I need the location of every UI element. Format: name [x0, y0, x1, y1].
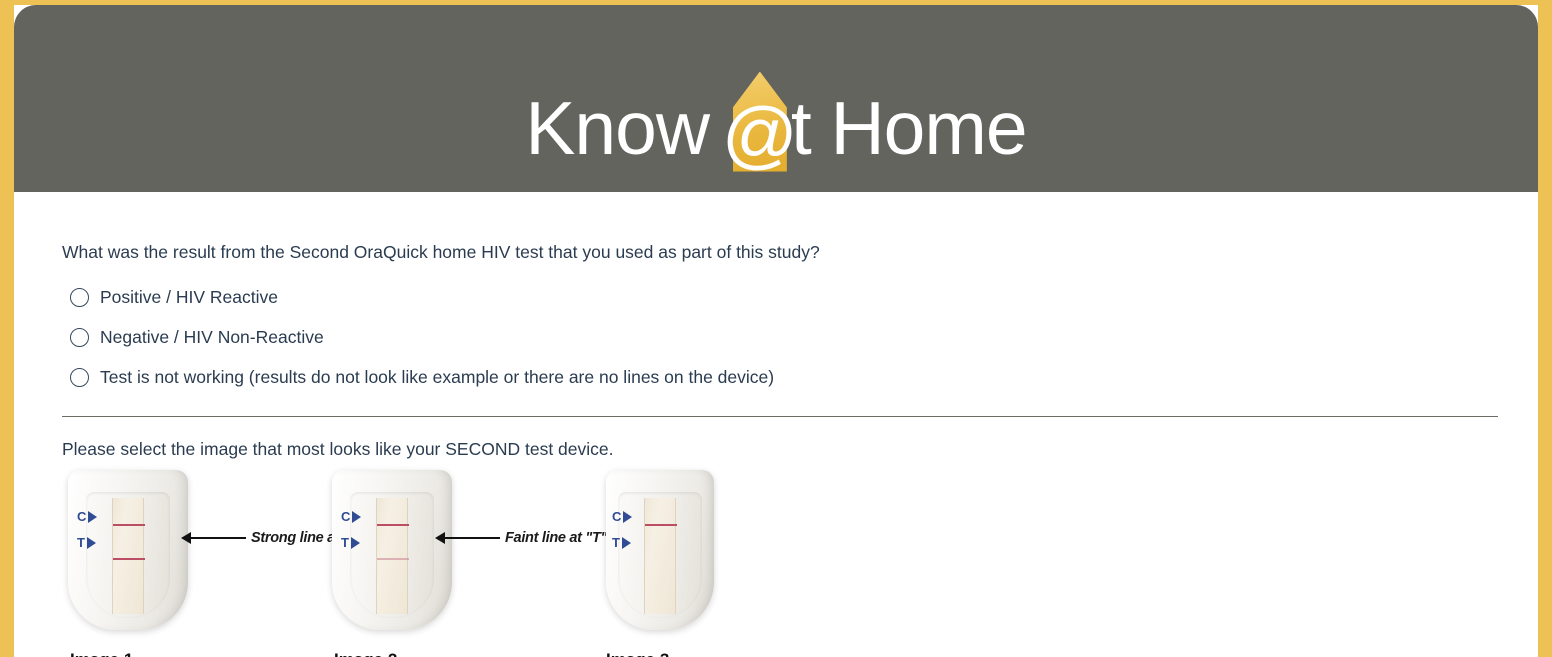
- test-strip-1: [112, 498, 144, 614]
- radio-positive[interactable]: [70, 288, 89, 307]
- control-line-3: [645, 524, 677, 527]
- site-logo: Know @ t Home: [525, 44, 1026, 154]
- callout-arrow-icon-1: [190, 537, 246, 539]
- option-label-positive: Positive / HIV Reactive: [100, 287, 278, 308]
- marker-c-label-2: C: [341, 509, 350, 524]
- marker-t-2: T: [341, 530, 375, 556]
- marker-group-1: C T: [77, 504, 111, 556]
- option-not-working[interactable]: Test is not working (results do not look…: [70, 358, 1504, 398]
- marker-c-arrow-icon-2: [352, 511, 361, 523]
- marker-t-label-2: T: [341, 535, 349, 550]
- radio-not-working[interactable]: [70, 368, 89, 387]
- control-line-2: [377, 524, 409, 527]
- marker-t-arrow-icon-1: [87, 537, 96, 549]
- option-positive[interactable]: Positive / HIV Reactive: [70, 278, 1504, 318]
- question-text: What was the result from the Second OraQ…: [48, 241, 1504, 264]
- test-strip-2: [376, 498, 408, 614]
- marker-group-3: C T: [612, 504, 646, 556]
- question-block: What was the result from the Second OraQ…: [48, 192, 1504, 398]
- option-negative[interactable]: Negative / HIV Non-Reactive: [70, 318, 1504, 358]
- survey-content: What was the result from the Second OraQ…: [14, 192, 1538, 657]
- device-label-2: Image 2: [334, 650, 397, 657]
- logo-house-mark: @: [729, 44, 791, 154]
- page-frame: Know @ t Home What was the result from t…: [14, 5, 1538, 657]
- marker-c-arrow-icon-3: [623, 511, 632, 523]
- marker-c-arrow-icon-1: [88, 511, 97, 523]
- marker-t-label-1: T: [77, 535, 85, 550]
- image-question-text: Please select the image that most looks …: [48, 439, 1504, 460]
- marker-t-1: T: [77, 530, 111, 556]
- cassette-body-1: C T: [68, 470, 188, 630]
- cassette-body-3: C T: [606, 470, 714, 630]
- device-option-2[interactable]: C T Faint line at "T": [326, 470, 556, 645]
- control-line-1: [113, 524, 145, 527]
- device-image-row: C T Strong line at "T": [48, 470, 1504, 657]
- marker-t-3: T: [612, 530, 646, 556]
- at-symbol-icon: @: [729, 72, 791, 172]
- marker-c-3: C: [612, 504, 646, 530]
- site-header: Know @ t Home: [14, 5, 1538, 192]
- option-label-not-working: Test is not working (results do not look…: [100, 367, 774, 388]
- callout-2: Faint line at "T": [444, 530, 607, 546]
- device-label-3: Image 3: [606, 650, 669, 657]
- logo-text-after: t Home: [791, 91, 1027, 166]
- test-strip-3: [644, 498, 676, 614]
- test-line-2: [377, 558, 409, 561]
- logo-text-before: Know: [525, 91, 728, 166]
- marker-t-arrow-icon-2: [351, 537, 360, 549]
- device-label-1: Image 1: [70, 650, 133, 657]
- section-divider: [62, 416, 1498, 417]
- marker-t-label-3: T: [612, 535, 620, 550]
- marker-c-label-3: C: [612, 509, 621, 524]
- marker-c-2: C: [341, 504, 375, 530]
- callout-arrow-icon-2: [444, 537, 500, 539]
- device-option-1[interactable]: C T Strong line at "T": [62, 470, 292, 645]
- radio-negative[interactable]: [70, 328, 89, 347]
- cassette-body-2: C T: [332, 470, 452, 630]
- callout-text-2: Faint line at "T": [505, 530, 607, 546]
- marker-c-label-1: C: [77, 509, 86, 524]
- marker-group-2: C T: [341, 504, 375, 556]
- device-option-3[interactable]: C T Image 3: [598, 470, 828, 645]
- marker-c-1: C: [77, 504, 111, 530]
- option-label-negative: Negative / HIV Non-Reactive: [100, 327, 324, 348]
- device-art-1: C T Strong line at "T": [62, 470, 292, 645]
- device-art-3: C T: [598, 470, 828, 645]
- radio-group: Positive / HIV Reactive Negative / HIV N…: [48, 278, 1504, 398]
- marker-t-arrow-icon-3: [622, 537, 631, 549]
- device-art-2: C T Faint line at "T": [326, 470, 556, 645]
- test-line-1: [113, 558, 145, 561]
